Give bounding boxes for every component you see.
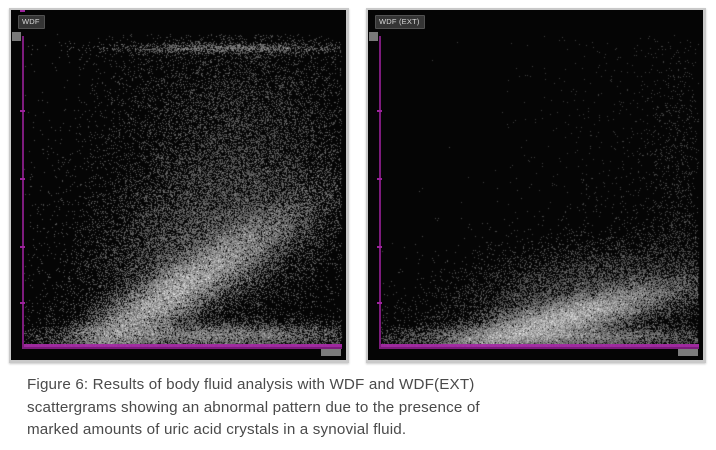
caption-line-2: scattergrams showing an abnormal pattern… xyxy=(27,397,667,420)
scatter-canvas-wdf-ext xyxy=(368,10,703,360)
caption-line-3: marked amounts of uric acid crystals in … xyxy=(27,419,667,442)
plot-area-wdf-ext[interactable]: WDF (EXT) xyxy=(368,10,703,360)
y-axis-tick xyxy=(20,178,25,180)
figure-caption: Figure 6: Results of body fluid analysis… xyxy=(27,374,667,442)
y-axis-tick xyxy=(377,178,382,180)
plot-area-wdf[interactable]: WDF xyxy=(11,10,346,360)
y-axis-tick xyxy=(20,10,25,12)
caption-line-1: Figure 6: Results of body fluid analysis… xyxy=(27,374,667,397)
scattergram-panel-wdf-ext[interactable]: WDF (EXT) xyxy=(366,8,706,363)
x-axis-unit-chip-wdf-ext xyxy=(678,349,698,356)
x-axis-wdf xyxy=(22,347,342,349)
scatter-canvas-wdf xyxy=(11,10,346,360)
x-axis-wdf-ext xyxy=(379,347,699,349)
y-axis-tick xyxy=(377,246,382,248)
y-axis-tick xyxy=(20,302,25,304)
y-axis-tick xyxy=(20,110,25,112)
x-axis-unit-chip-wdf xyxy=(321,349,341,356)
scattergram-panel-wdf[interactable]: WDF xyxy=(9,8,349,363)
scattergram-row: WDF WDF (EXT) xyxy=(0,0,716,368)
figure-container: WDF WDF (EXT) Figure 6: Results of body … xyxy=(0,0,716,450)
y-axis-tick xyxy=(377,302,382,304)
y-axis-tick xyxy=(377,110,382,112)
y-axis-origin-chip-wdf-ext xyxy=(369,32,378,41)
panel-title-wdf-ext: WDF (EXT) xyxy=(375,15,425,29)
y-axis-tick xyxy=(20,246,25,248)
panel-title-wdf: WDF xyxy=(18,15,45,29)
y-axis-origin-chip-wdf xyxy=(12,32,21,41)
